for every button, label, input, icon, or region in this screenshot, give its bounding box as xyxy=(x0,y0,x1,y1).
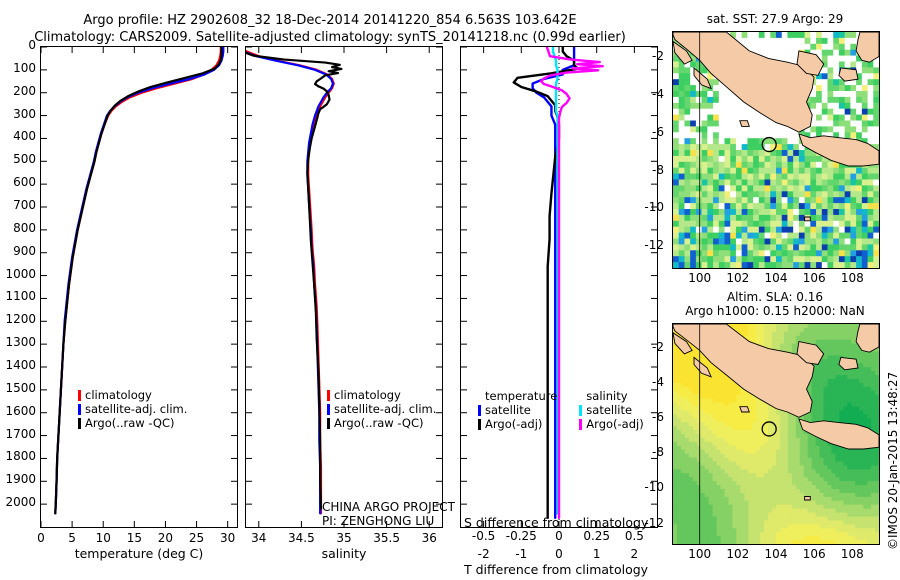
legend-swatch xyxy=(78,418,81,429)
legend-label: Argo(-adj) xyxy=(485,417,542,431)
legend-item: climatology xyxy=(327,388,436,402)
salinity-tick-label: 35 xyxy=(336,531,351,545)
legend-swatch xyxy=(579,419,582,430)
salinity-legend: climatologysatellite-adj. clim.Argo(..ra… xyxy=(327,388,436,430)
lat-tick-label: -2 xyxy=(620,340,664,354)
lat-tick-label: -10 xyxy=(620,200,664,214)
temperature-tick-label: 15 xyxy=(127,531,142,545)
legend-swatch xyxy=(579,405,582,416)
s-difference-axis-ticks: -0.5-0.2500.250.5 xyxy=(460,529,658,543)
depth-tick-label: 700 xyxy=(0,198,36,212)
legend-item: climatology xyxy=(78,388,187,402)
lon-tick-label: 100 xyxy=(688,547,711,561)
title-line-1: Argo profile: HZ 2902608_32 18-Dec-2014 … xyxy=(0,12,660,29)
salinity-tick-label: 36 xyxy=(422,531,437,545)
depth-tick-label: 1500 xyxy=(0,381,36,395)
salinity-axis-ticks: 3434.53535.536 xyxy=(245,531,443,545)
temperature-legend: climatologysatellite-adj. clim.Argo(..ra… xyxy=(78,388,187,430)
legend-swatch xyxy=(327,404,330,415)
depth-tick-label: 1600 xyxy=(0,404,36,418)
sst-map-canvas[interactable] xyxy=(673,32,879,268)
s-diff-tick-label: 0.25 xyxy=(583,529,610,543)
t-difference-axis-label: T difference from climatology xyxy=(460,562,658,577)
legend-label: Argo(..raw -QC) xyxy=(334,416,424,430)
lat-tick-label: -8 xyxy=(620,445,664,459)
depth-tick-label: 1100 xyxy=(0,289,36,303)
s-diff-tick-label: 0.5 xyxy=(625,529,644,543)
lat-tick-label: -12 xyxy=(620,516,664,530)
depth-tick-label: 600 xyxy=(0,175,36,189)
coastline xyxy=(805,217,811,221)
temperature-tick-label: 30 xyxy=(220,531,235,545)
depth-tick-label: 200 xyxy=(0,84,36,98)
legend-group: temperaturesatelliteArgo(-adj) xyxy=(478,389,557,431)
temperature-profile-panel xyxy=(40,46,238,528)
legend-swatch xyxy=(327,418,330,429)
s-diff-tick-label: -0.25 xyxy=(506,529,537,543)
lon-tick-label: 106 xyxy=(803,547,826,561)
lat-tick-label: -6 xyxy=(620,410,664,424)
project-pi: PI: ZENGHONG LIU xyxy=(322,514,455,528)
coastline xyxy=(740,407,750,412)
sst-map-header: sat. SST: 27.9 Argo: 29 xyxy=(655,12,895,26)
legend-swatch xyxy=(78,404,81,415)
t-diff-tick-label: 2 xyxy=(631,547,639,561)
depth-tick-label: 1900 xyxy=(0,472,36,486)
legend-item: satellite-adj. clim. xyxy=(327,402,436,416)
legend-swatch xyxy=(327,390,330,401)
t-diff-tick-label: -2 xyxy=(478,547,490,561)
s-diff-tick-label: 0 xyxy=(555,529,563,543)
legend-label: satellite xyxy=(485,403,531,417)
legend-swatch xyxy=(78,390,81,401)
lon-tick-label: 104 xyxy=(765,547,788,561)
salinity-plot-area xyxy=(246,47,442,527)
legend-item: Argo(..raw -QC) xyxy=(327,416,436,430)
figure-title: Argo profile: HZ 2902608_32 18-Dec-2014 … xyxy=(0,12,660,46)
lat-tick-label: -6 xyxy=(620,125,664,139)
legend-swatch xyxy=(478,419,481,430)
legend-label: Argo(..raw -QC) xyxy=(85,416,175,430)
sst-map-panel[interactable] xyxy=(672,31,880,269)
s-diff-tick-label: -0.5 xyxy=(472,529,495,543)
depth-tick-label: 300 xyxy=(0,107,36,121)
temperature-axis-ticks: 051015202530 xyxy=(40,531,238,545)
lon-tick-label: 100 xyxy=(688,271,711,285)
lat-tick-label: -12 xyxy=(620,238,664,252)
t-diff-tick-label: -1 xyxy=(515,547,527,561)
depth-tick-label: 2000 xyxy=(0,495,36,509)
temperature-axis-label: temperature (deg C) xyxy=(40,546,238,561)
depth-tick-label: 1200 xyxy=(0,312,36,326)
temperature-tick-label: 0 xyxy=(37,531,45,545)
legend-swatch xyxy=(478,405,481,416)
temperature-tick-label: 5 xyxy=(68,531,76,545)
imos-credit: ©IMOS 20-Jan-2015 13:48:27 xyxy=(886,372,900,550)
lon-tick-label: 106 xyxy=(803,271,826,285)
sla-map-header: Altim. SLA: 0.16 Argo h1000: 0.15 h2000:… xyxy=(655,290,895,318)
legend-label: satellite-adj. clim. xyxy=(334,402,436,416)
salinity-profile-panel xyxy=(245,46,443,528)
depth-tick-label: 1000 xyxy=(0,267,36,281)
salinity-tick-label: 35.5 xyxy=(373,531,400,545)
argo-heights: Argo h1000: 0.15 h2000: NaN xyxy=(655,304,895,318)
coastline xyxy=(805,497,811,501)
t-diff-tick-label: 1 xyxy=(593,547,601,561)
t-diff-tick-label: 0 xyxy=(555,547,563,561)
lat-tick-label: -4 xyxy=(620,375,664,389)
legend-label: climatology xyxy=(334,388,401,402)
legend-label: satellite-adj. clim. xyxy=(85,402,187,416)
temperature-tick-label: 25 xyxy=(189,531,204,545)
sla-map-panel[interactable] xyxy=(672,323,880,545)
salinity-tick-label: 34.5 xyxy=(288,531,315,545)
legend-item: satellite-adj. clim. xyxy=(78,402,187,416)
sla-map-canvas[interactable] xyxy=(673,324,879,544)
sst-map-lon-ticks: 100102104106108 xyxy=(672,271,880,285)
lon-tick-label: 108 xyxy=(841,271,864,285)
lon-tick-label: 108 xyxy=(841,547,864,561)
depth-tick-label: 800 xyxy=(0,221,36,235)
temperature-plot-area xyxy=(41,47,237,527)
depth-tick-label: 500 xyxy=(0,152,36,166)
project-name: CHINA ARGO PROJECT xyxy=(322,500,455,514)
temperature-tick-label: 10 xyxy=(96,531,111,545)
sla-value: Altim. SLA: 0.16 xyxy=(655,290,895,304)
coastline xyxy=(740,121,750,127)
lat-tick-label: -8 xyxy=(620,163,664,177)
depth-tick-label: 400 xyxy=(0,129,36,143)
sla-map-lon-ticks: 100102104106108 xyxy=(672,547,880,561)
lon-tick-label: 104 xyxy=(765,271,788,285)
depth-tick-label: 1700 xyxy=(0,427,36,441)
title-line-2: Climatology: CARS2009. Satellite-adjuste… xyxy=(0,29,660,46)
lat-tick-label: -10 xyxy=(620,480,664,494)
depth-tick-label: 1800 xyxy=(0,449,36,463)
salinity-axis-label: salinity xyxy=(245,546,443,561)
depth-tick-label: 900 xyxy=(0,244,36,258)
lon-tick-label: 102 xyxy=(726,271,749,285)
legend-item: Argo(..raw -QC) xyxy=(78,416,187,430)
lat-tick-label: -2 xyxy=(620,49,664,63)
depth-tick-label: 1400 xyxy=(0,358,36,372)
depth-tick-label: 1300 xyxy=(0,335,36,349)
lon-tick-label: 102 xyxy=(726,547,749,561)
legend-item: satellite xyxy=(478,403,557,417)
legend-label: climatology xyxy=(85,388,152,402)
legend-group-header: temperature xyxy=(478,389,557,403)
t-difference-axis-ticks: -2-1012 xyxy=(460,547,658,561)
lat-tick-label: -4 xyxy=(620,87,664,101)
temperature-tick-label: 20 xyxy=(158,531,173,545)
depth-tick-label: 100 xyxy=(0,61,36,75)
legend-group-header: salinity xyxy=(579,389,643,403)
difference-legend: temperaturesatelliteArgo(-adj)salinitysa… xyxy=(478,389,644,431)
legend-item: Argo(-adj) xyxy=(478,417,557,431)
salinity-tick-label: 34 xyxy=(251,531,266,545)
depth-tick-label: 0 xyxy=(0,38,36,52)
project-credit: CHINA ARGO PROJECT PI: ZENGHONG LIU xyxy=(322,500,455,528)
